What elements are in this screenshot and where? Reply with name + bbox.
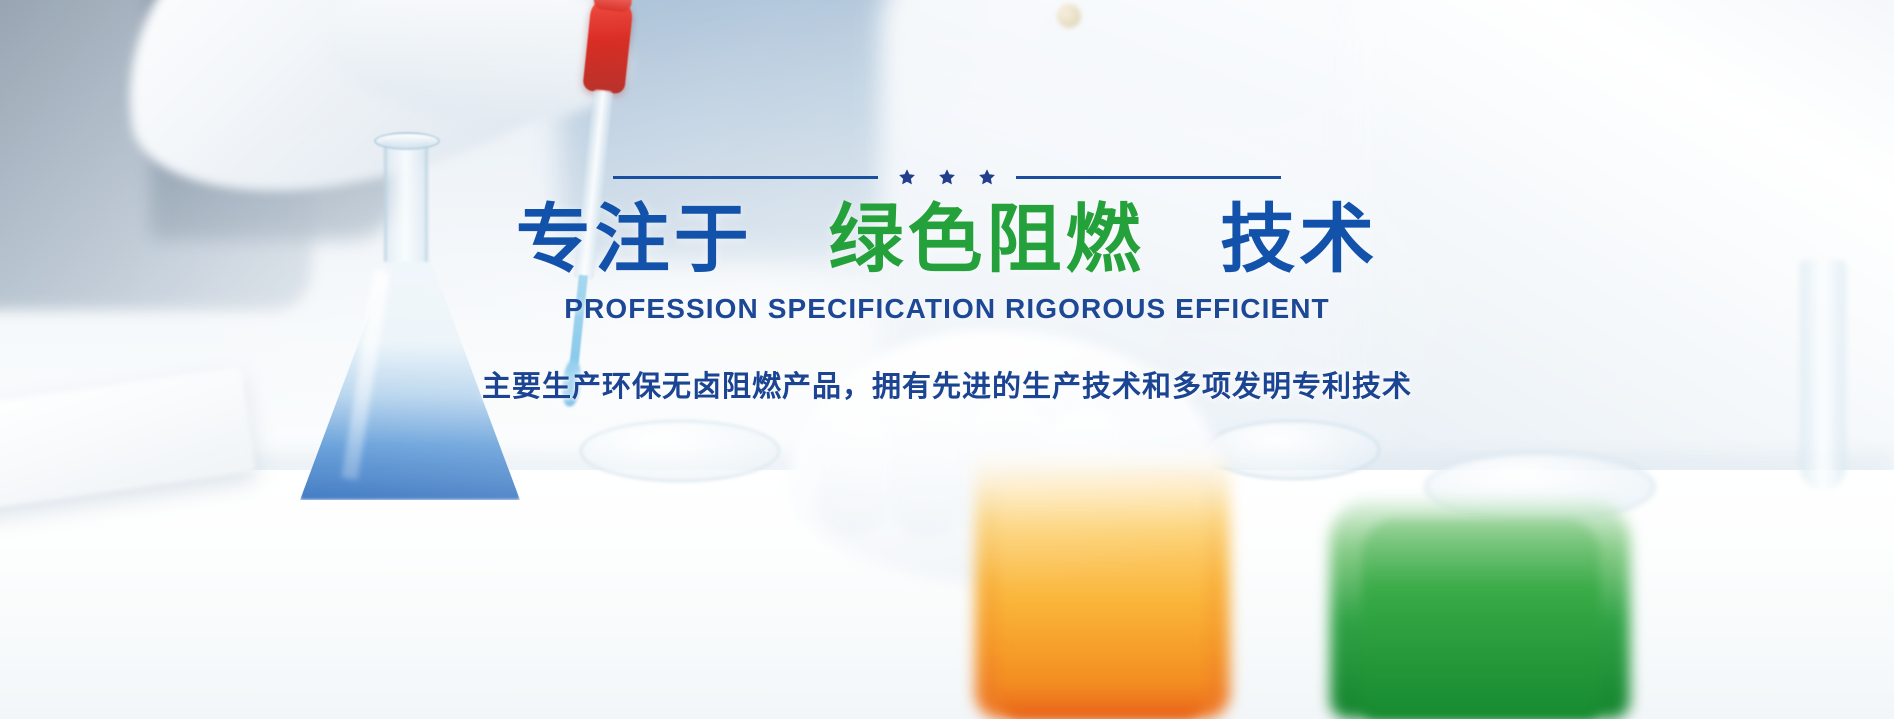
divider-rule-right — [1016, 176, 1281, 179]
headline-part-1: 专注于 — [516, 197, 753, 281]
decorative-divider — [613, 168, 1281, 186]
star-icon — [938, 168, 956, 186]
banner-content: 专注于 绿色阻燃 技术 PROFESSION SPECIFICATION RIG… — [0, 0, 1894, 719]
headline-part-2: 绿色阻燃 — [828, 197, 1144, 281]
star-icon — [978, 168, 996, 186]
star-icon — [898, 168, 916, 186]
star-group — [894, 168, 1000, 186]
hero-banner: 专注于 绿色阻燃 技术 PROFESSION SPECIFICATION RIG… — [0, 0, 1894, 719]
subtitle-english: PROFESSION SPECIFICATION RIGOROUS EFFICI… — [564, 293, 1330, 325]
headline-part-3: 技术 — [1220, 197, 1378, 281]
divider-rule-left — [613, 176, 878, 179]
description-chinese: 主要生产环保无卤阻燃产品，拥有先进的生产技术和多项发明专利技术 — [482, 363, 1412, 405]
headline: 专注于 绿色阻燃 技术 — [516, 200, 1378, 279]
